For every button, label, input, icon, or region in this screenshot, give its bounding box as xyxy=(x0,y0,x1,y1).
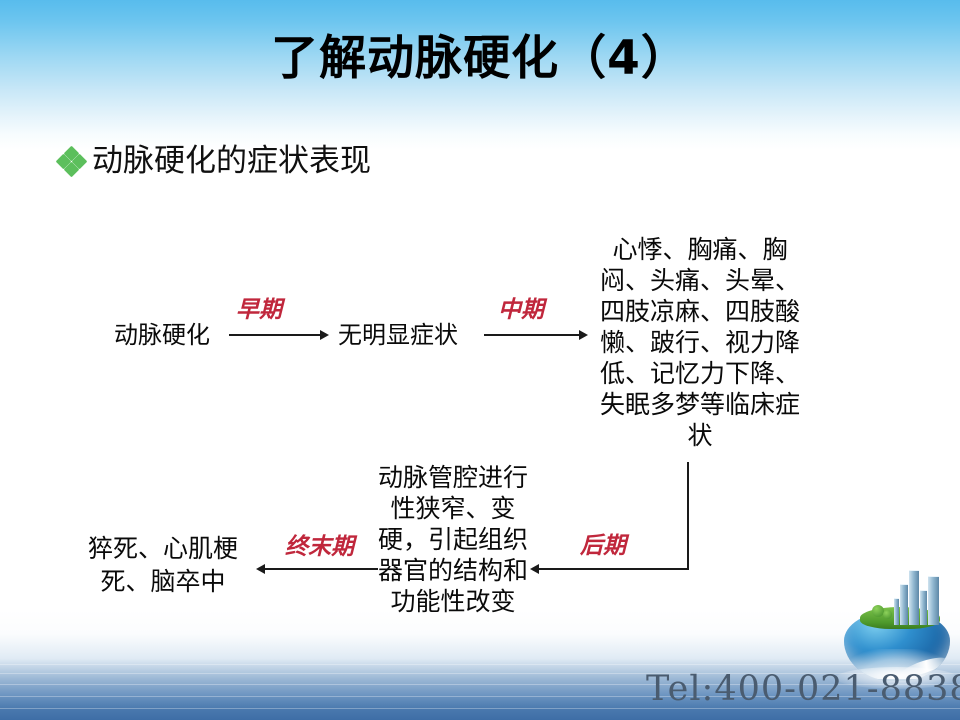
connector-terminal-line xyxy=(264,568,378,570)
stage-label-post-late: 后期 xyxy=(580,534,626,557)
footer-phone-number: Tel:400-021-8838 xyxy=(646,672,960,707)
connector-terminal-arrow xyxy=(256,564,265,574)
diagram-node-late-changes: 动脉管腔进行性狭窄、变硬，引起组织器官的结构和功能性改变 xyxy=(378,462,528,617)
connector-postlate-arrow xyxy=(530,564,539,574)
bullet-heading-text: 动脉硬化的症状表现 xyxy=(92,146,371,177)
stage-label-early: 早期 xyxy=(236,298,282,321)
diagram-node-start: 动脉硬化 xyxy=(100,320,224,350)
stage-label-middle: 中期 xyxy=(498,298,544,321)
green-diamond-cluster-icon xyxy=(58,148,86,176)
connector-postlate-hline xyxy=(538,568,689,570)
sea-streak xyxy=(0,664,960,665)
stage-label-terminal: 终末期 xyxy=(285,535,354,558)
connector-early-line xyxy=(229,334,321,336)
connector-middle-arrow xyxy=(579,330,588,340)
bullet-heading-row: 动脉硬化的症状表现 xyxy=(58,146,371,177)
connector-middle-line xyxy=(484,334,580,336)
slide-canvas: 了解动脉硬化（4） 动脉硬化的症状表现 动脉硬化 无明显症状 心悸、胸痛、胸闷、… xyxy=(0,0,960,720)
page-title: 了解动脉硬化（4） xyxy=(0,33,960,85)
diagram-node-terminal: 猝死、心肌梗死、脑卒中 xyxy=(78,532,248,598)
connector-postlate-vline xyxy=(687,462,689,570)
diagram-node-mid-symptoms: 心悸、胸痛、胸闷、头痛、头晕、四肢凉麻、四肢酸懒、跛行、视力降低、记忆力下降、失… xyxy=(600,234,800,451)
diagram-node-no-symptom: 无明显症状 xyxy=(328,320,468,350)
connector-early-arrow xyxy=(320,330,329,340)
